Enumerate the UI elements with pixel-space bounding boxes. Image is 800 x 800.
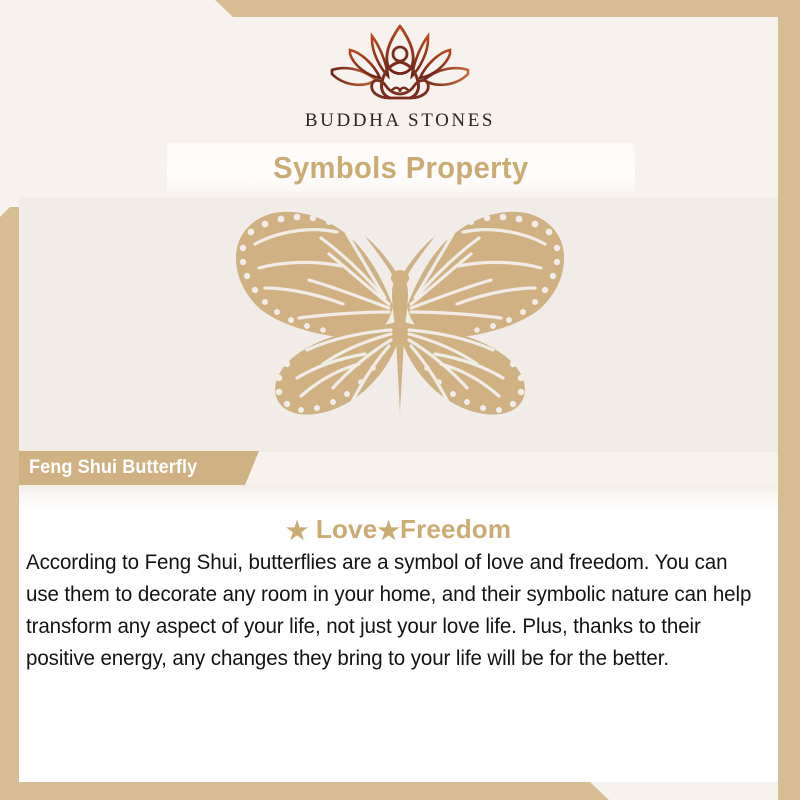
brand-logo: BUDDHA STONES [285,22,515,132]
star-icon-left: ★ [286,517,309,545]
frame-bottom-accent [0,782,800,800]
title-band: Symbols Property [167,143,635,192]
lotus-meditation-icon [320,22,480,108]
subheading-love: Love [316,514,377,544]
content-paragraph: According to Feng Shui, butterflies are … [26,546,752,674]
subheading-freedom: Freedom [400,514,511,544]
page-header: BUDDHA STONES [0,0,800,140]
star-icon-middle: ★ [377,517,400,545]
butterfly-illustration [225,198,575,430]
banner-label: Feng Shui Butterfly [29,457,197,479]
feng-shui-butterfly-banner: Feng Shui Butterfly [19,451,259,485]
content-card: ★ Love★Freedom According to Feng Shui, b… [19,485,778,782]
brand-name: BUDDHA STONES [285,110,515,132]
butterfly-icon [225,198,575,430]
content-subheading: ★ Love★Freedom [19,514,778,545]
frame-left-accent [0,207,19,800]
infographic-page: BUDDHA STONES Symbols Property [0,0,800,800]
page-title: Symbols Property [273,150,528,186]
